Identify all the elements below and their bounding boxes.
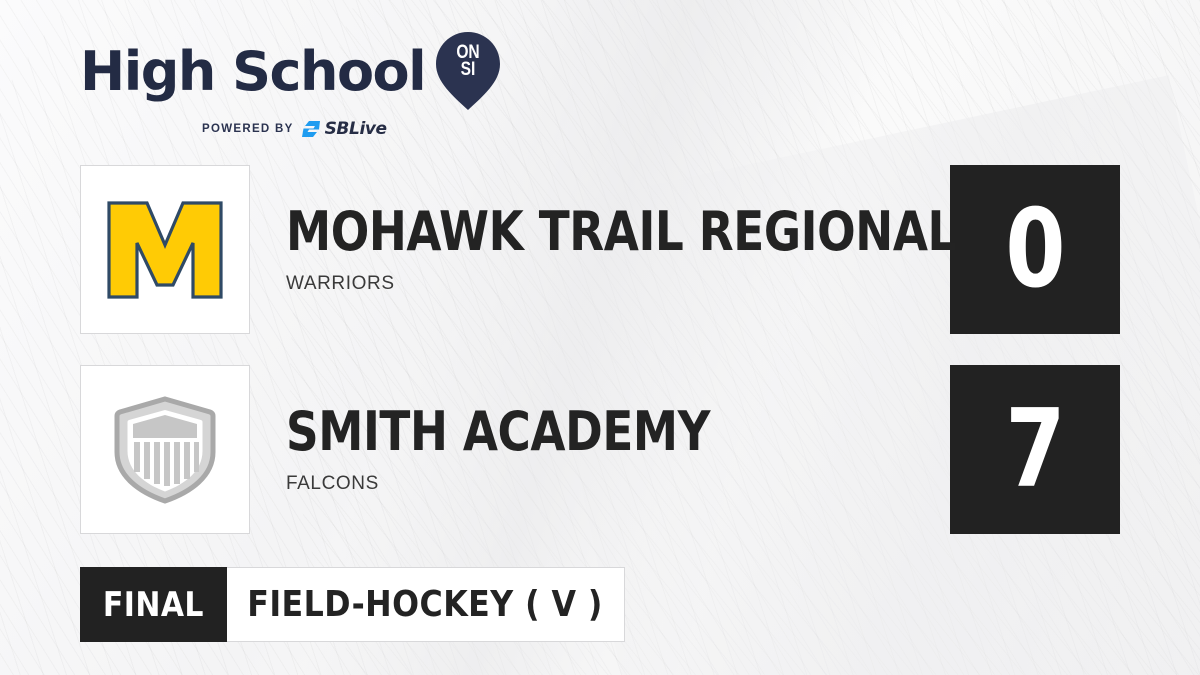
team-score: 0: [1006, 196, 1065, 304]
brand-title: High School: [80, 45, 425, 99]
status-badge: FINAL: [80, 567, 227, 642]
map-pin-badge-icon: ON SI: [435, 32, 501, 110]
team-name: SMITH ACADEMY: [286, 405, 844, 459]
map-pin-badge-text: ON SI: [441, 44, 495, 78]
team-info: MOHAWK TRAIL REGIONAL WARRIORS: [250, 205, 950, 295]
brand-logo[interactable]: High School ON SI POWERED BY SBLive: [80, 34, 510, 138]
powered-by-row: POWERED BY SBLive: [80, 120, 510, 138]
badge-line-si: SI: [441, 61, 495, 78]
team-mascot: WARRIORS: [286, 273, 950, 295]
generic-shield-logo-icon: [113, 396, 217, 504]
sblive-word-light: ive: [359, 119, 386, 139]
team-logo-card[interactable]: [80, 365, 250, 534]
block-m-logo-icon: [107, 201, 223, 299]
sblive-word-bold: SBL: [325, 119, 360, 139]
sblive-wordmark: SBLive: [325, 121, 387, 138]
sport-label: FIELD-HOCKEY ( V ): [248, 584, 604, 625]
team-info: SMITH ACADEMY FALCONS: [250, 405, 950, 495]
game-status-bar: FINAL FIELD-HOCKEY ( V ): [80, 567, 625, 642]
team-name: MOHAWK TRAIL REGIONAL: [286, 205, 844, 259]
team-row: SMITH ACADEMY FALCONS 7: [80, 365, 1120, 534]
sport-label-box: FIELD-HOCKEY ( V ): [227, 567, 625, 642]
team-row: MOHAWK TRAIL REGIONAL WARRIORS 0: [80, 165, 1120, 334]
team-score: 7: [1006, 396, 1065, 504]
team-score-box: 7: [950, 365, 1120, 534]
sblive-logo[interactable]: SBLive: [302, 120, 387, 138]
team-mascot: FALCONS: [286, 473, 950, 495]
brand-logo-row: High School ON SI: [80, 34, 510, 110]
team-logo-card[interactable]: [80, 165, 250, 334]
sblive-s-mark-icon: [302, 120, 322, 138]
powered-by-label: POWERED BY: [202, 123, 294, 135]
team-score-box: 0: [950, 165, 1120, 334]
status-badge-label: FINAL: [103, 585, 204, 625]
